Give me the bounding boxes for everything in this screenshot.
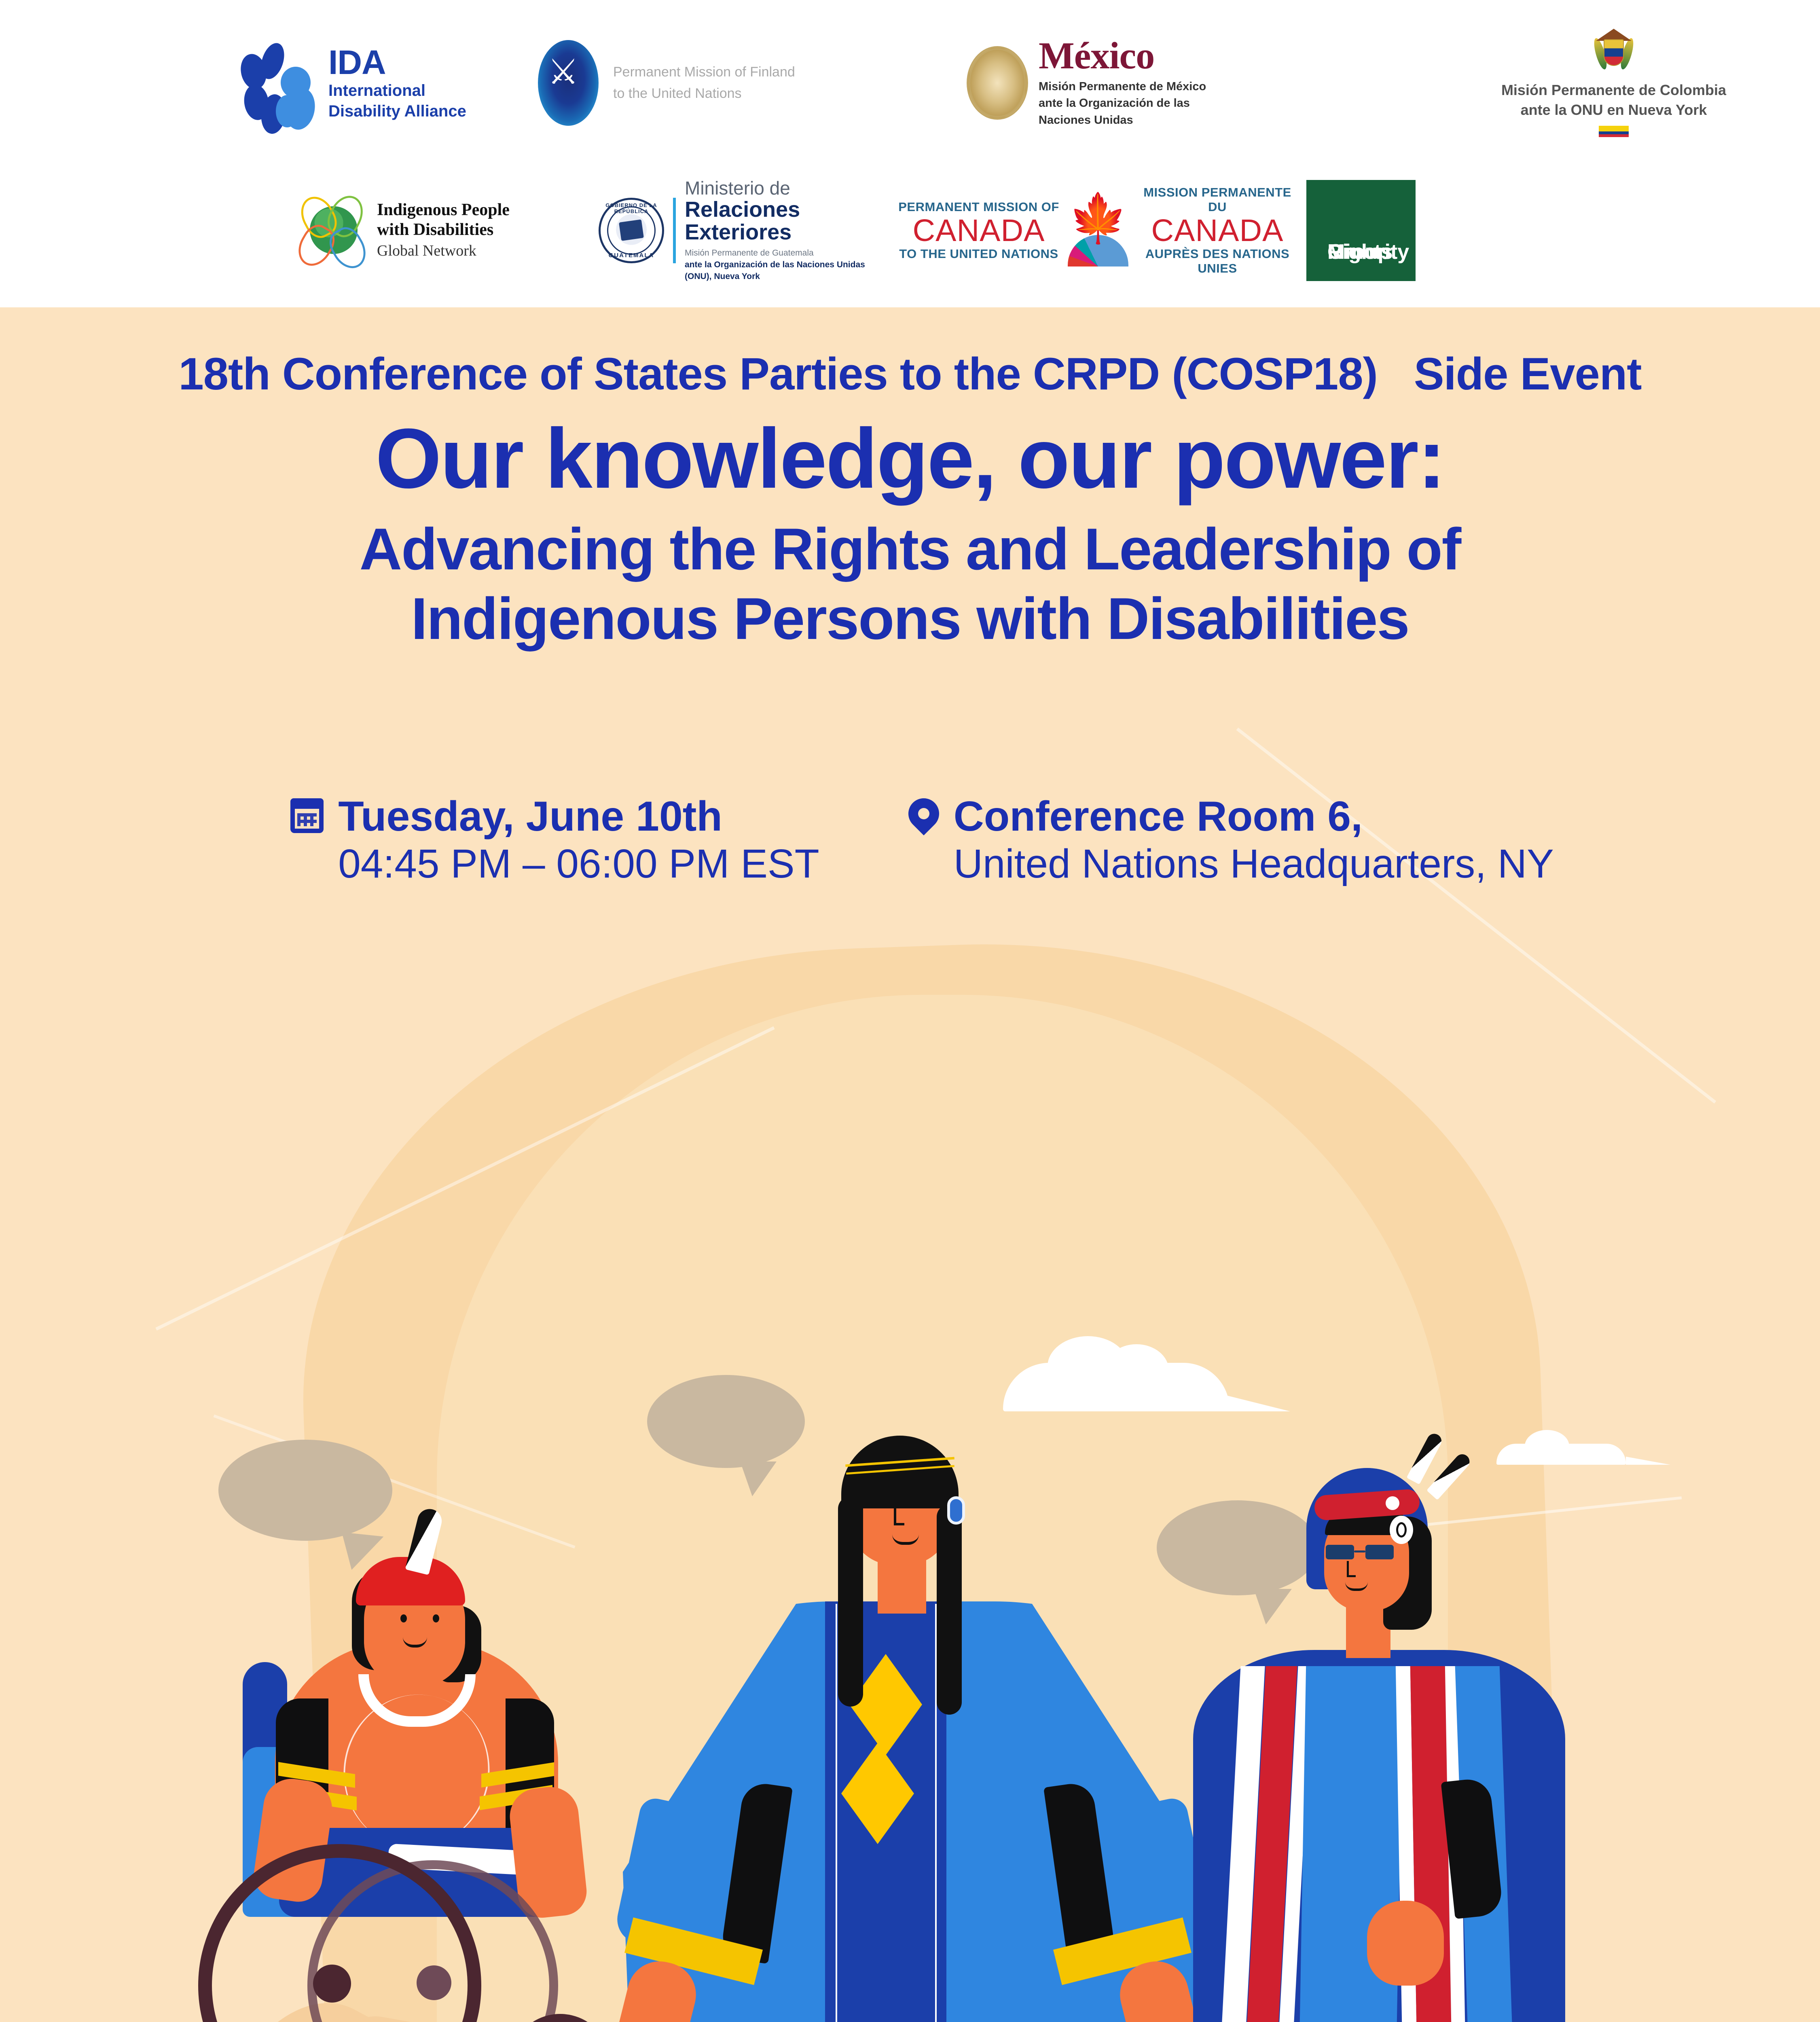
colombia-flag-icon [1599, 126, 1629, 137]
side-event-label: Side Event [1414, 349, 1642, 399]
finland-line-1: Permanent Mission of Finland [613, 61, 795, 83]
conference-name: 18th Conference of States Parties to the… [178, 349, 1377, 399]
partner-logo-row-2: Indigenous People with Disabilities Glob… [299, 174, 1424, 287]
logo-guatemala: GOBIERNO DE LA REPÚBLICA GUATEMALA Minis… [599, 178, 890, 283]
ida-acronym: IDA [328, 45, 466, 79]
finland-line-2: to the United Nations [613, 83, 795, 104]
person-right-feather [1426, 1451, 1473, 1500]
ipwdgn-line-2: with Disabilities [377, 220, 510, 240]
background-streak [1236, 728, 1716, 1104]
logo-colombia: Misión Permanente de Colombia ante la ON… [1432, 29, 1796, 137]
guatemala-line-2: Relaciones [685, 198, 890, 221]
canada-fr-top: MISSION PERMANENTE DU [1136, 185, 1298, 214]
logo-mexico: México Misión Permanente de México ante … [967, 37, 1432, 129]
guatemala-line-1: Ministerio de [685, 178, 890, 198]
person-left-eye [400, 1614, 407, 1622]
event-time: 04:45 PM – 06:00 PM EST [338, 841, 819, 887]
person-center-braid [937, 1504, 962, 1715]
person-right-headdress-disc-inner [1396, 1522, 1407, 1538]
guatemala-divider [673, 198, 676, 263]
mexico-line-1: Misión Permanente de México [1039, 78, 1206, 95]
finland-lion-emblem-icon: ⚔ [538, 40, 599, 126]
mrg-line-3: Group [1327, 241, 1390, 263]
canada-en-bottom: TO THE UNITED NATIONS [898, 247, 1060, 261]
person-center-nose [894, 1505, 904, 1525]
page-subtitle-line-2: Indigenous Persons with Disabilities [0, 584, 1820, 654]
guatemala-line-4: Misión Permanente de Guatemala [685, 247, 890, 259]
hearing-aid-icon [947, 1496, 965, 1525]
ipwdgn-line-1: Indigenous People [377, 200, 510, 220]
partner-logo-banner: IDA International Disability Alliance ⚔ … [0, 0, 1820, 307]
event-datetime: Tuesday, June 10th 04:45 PM – 06:00 PM E… [290, 793, 819, 887]
map-pin-icon [908, 798, 939, 829]
colombia-line-1: Misión Permanente de Colombia [1501, 80, 1726, 100]
logo-indigenous-people-with-disabilities-global-network: Indigenous People with Disabilities Glob… [299, 195, 599, 266]
logo-canada: PERMANENT MISSION OF CANADA TO THE UNITE… [890, 185, 1306, 276]
sunglasses-icon [1326, 1545, 1411, 1561]
ipwdgn-line-3: Global Network [377, 241, 510, 261]
canada-en-top: PERMANENT MISSION OF [898, 200, 1060, 214]
event-date: Tuesday, June 10th [338, 793, 819, 841]
event-meta-row: Tuesday, June 10th 04:45 PM – 06:00 PM E… [0, 793, 1820, 887]
canada-fr-wordmark: CANADA [1136, 214, 1298, 247]
person-right-hand [1367, 1901, 1444, 1986]
guatemala-seal-top-text: GOBIERNO DE LA REPÚBLICA [601, 202, 662, 214]
person-center-eye [878, 1496, 886, 1506]
person-center-placket-line [836, 1604, 837, 2022]
event-room: Conference Room 6, [954, 793, 1554, 841]
guatemala-line-5: ante la Organización de las Naciones [685, 260, 834, 269]
wheelchair-hub [313, 1965, 351, 2003]
event-venue: United Nations Headquarters, NY [954, 841, 1554, 887]
mexico-line-3: Naciones Unidas [1039, 112, 1206, 129]
event-location: Conference Room 6, United Nations Headqu… [908, 793, 1554, 887]
person-right-nose [1347, 1561, 1356, 1577]
hero-text-block: 18th Conference of States Parties to the… [0, 348, 1820, 654]
illustration-person-right [1169, 1423, 1598, 2022]
logo-ida: IDA International Disability Alliance [243, 42, 538, 123]
globe-hands-icon [299, 195, 369, 266]
guatemala-line-3: Exteriores [685, 221, 890, 244]
page-subtitle-line-1: Advancing the Rights and Leadership of [0, 514, 1820, 584]
person-right-headdress-dot [1386, 1496, 1399, 1510]
background-streak [155, 1026, 775, 1330]
colombia-coat-of-arms-icon [1595, 29, 1632, 77]
canada-en-wordmark: CANADA [898, 214, 1060, 247]
illustration-person-center [599, 1375, 1230, 2022]
canada-maple-leaf-icon: 🍁 [1060, 192, 1136, 269]
ida-name-line-2: Disability Alliance [328, 102, 466, 121]
mexico-wordmark: México [1039, 37, 1206, 74]
canada-fr-bottom: AUPRÈS DES NATIONS UNIES [1136, 247, 1298, 276]
partner-logo-row-1: IDA International Disability Alliance ⚔ … [243, 32, 1796, 133]
person-center-braid [838, 1496, 863, 1707]
event-poster: IDA International Disability Alliance ⚔ … [0, 0, 1820, 2022]
calendar-icon [290, 798, 324, 833]
mexico-line-2: ante la Organización de las [1039, 95, 1206, 112]
ida-name-line-1: International [328, 82, 466, 100]
guatemala-seal-bottom-text: GUATEMALA [601, 252, 662, 259]
guatemala-national-seal-icon: GOBIERNO DE LA REPÚBLICA GUATEMALA [599, 198, 664, 263]
colombia-line-2: ante la ONU en Nueva York [1501, 100, 1726, 120]
event-eyebrow: 18th Conference of States Parties to the… [0, 348, 1820, 400]
person-left-eye [433, 1614, 439, 1622]
person-center-eye [915, 1496, 923, 1506]
logo-finland: ⚔ Permanent Mission of Finland to the Un… [538, 40, 967, 126]
logo-minority-rights-group: Minority Rights Group [1306, 180, 1424, 281]
page-title: Our knowledge, our power: [0, 414, 1820, 504]
mexico-eagle-seal-icon [967, 46, 1028, 120]
ida-people-mark-icon [243, 42, 320, 123]
